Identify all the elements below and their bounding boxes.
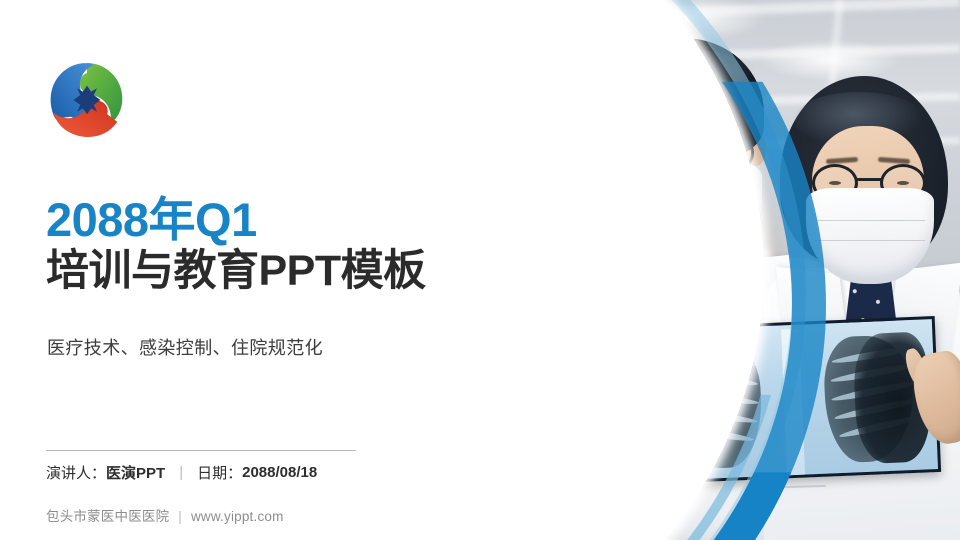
presenter-value: 医演PPT [106,462,165,483]
meta-separator: | [179,464,183,481]
page-title: 2088年Q1 培训与教育PPT模板 [46,196,426,294]
glasses-bridge [856,178,882,181]
cover-content: 2088年Q1 培训与教育PPT模板 医疗技术、感染控制、住院规范化 演讲人： … [0,0,430,540]
organization-name: 包头市蒙医中医医院 [46,509,169,524]
hospital-logo [45,58,129,142]
footnote-divider: | [178,509,182,524]
website-url[interactable]: www.yippt.com [191,509,284,524]
presenter-label: 演讲人： [46,462,106,483]
date-value: 2088/08/18 [242,464,317,481]
presentation-cover-slide: 2088年Q1 培训与教育PPT模板 医疗技术、感染控制、住院规范化 演讲人： … [0,0,960,540]
divider-rule [46,450,356,451]
date-label: 日期： [197,462,242,483]
title-main: 培训与教育PPT模板 [46,248,426,294]
title-year: 2088年Q1 [46,196,426,244]
meta-row: 演讲人： 医演PPT | 日期： 2088/08/18 [46,462,317,483]
footnote: 包头市蒙医中医医院 | www.yippt.com [46,505,284,525]
subtitle: 医疗技术、感染控制、住院规范化 [47,334,323,360]
